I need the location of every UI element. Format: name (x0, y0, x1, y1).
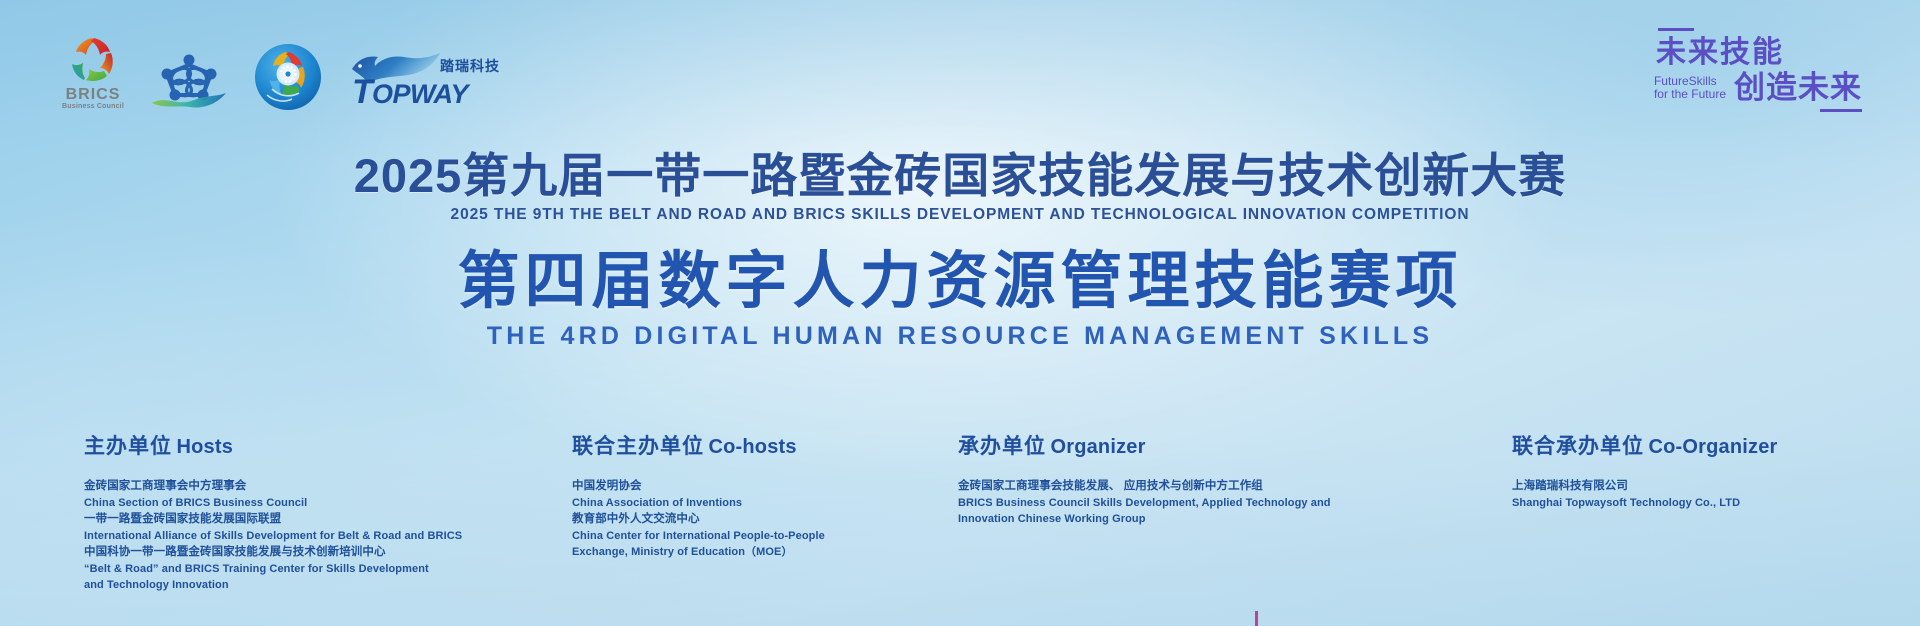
sub-title-en: THE 4RD DIGITAL HUMAN RESOURCE MANAGEMEN… (0, 321, 1920, 351)
svg-text:踏瑞科技: 踏瑞科技 (440, 58, 500, 74)
organizer-line: 一带一路暨金砖国家技能发展国际联盟 (84, 511, 554, 528)
organizer-line: Innovation Chinese Working Group (958, 511, 1388, 528)
organizer-line: 上海踏瑞科技有限公司 (1512, 478, 1912, 495)
organizer-heading: 联合主办单位 Co-hosts (572, 430, 932, 460)
magenta-tick-mark (1255, 611, 1258, 626)
organizer-line: International Alliance of Skills Develop… (84, 528, 554, 545)
brics-logo-subtext: Business Council (62, 102, 124, 111)
organizer-line: 金砖国家工商理事会中方理事会 (84, 478, 554, 495)
organizer-line: “Belt & Road” and BRICS Training Center … (84, 561, 554, 578)
organizer-heading: 联合承办单位 Co-Organizer (1512, 430, 1912, 460)
organizer-column-organizer: 承办单位 Organizer 金砖国家工商理事会技能发展、 应用技术与创新中方工… (958, 430, 1388, 528)
future-skills-en: FutureSkills for the Future (1654, 75, 1726, 104)
title-block: 2025第九届一带一路暨金砖国家技能发展与技术创新大赛 2025 THE 9TH… (0, 150, 1920, 351)
organizer-line: 中国科协一带一路暨金砖国家技能发展与技术创新培训中心 (84, 544, 554, 561)
organizer-heading-cn: 承办单位 (958, 435, 1046, 458)
organizer-heading-cn: 联合主办单位 (572, 435, 704, 458)
organizer-line: 金砖国家工商理事会技能发展、 应用技术与创新中方工作组 (958, 478, 1388, 495)
competition-banner: BRICS Business Council (0, 0, 1920, 626)
organizer-line: and Technology Innovation (84, 577, 554, 594)
skills-alliance-logo (150, 47, 228, 111)
main-title-cn: 2025第九届一带一路暨金砖国家技能发展与技术创新大赛 (0, 150, 1920, 202)
future-skills-en-line2: for the Future (1654, 88, 1726, 101)
organizer-column-cohosts: 联合主办单位 Co-hosts 中国发明协会 China Association… (572, 430, 932, 561)
organizer-heading-cn: 主办单位 (84, 435, 172, 458)
main-title-en: 2025 THE 9TH THE BELT AND ROAD AND BRICS… (0, 205, 1920, 225)
future-skills-rule-bottom (1820, 109, 1862, 112)
sub-title-cn: 第四届数字人力资源管理技能赛项 (0, 247, 1920, 317)
organizer-line: 教育部中外人文交流中心 (572, 511, 932, 528)
organizer-line: China Section of BRICS Business Council (84, 495, 554, 512)
organizer-column-hosts: 主办单位 Hosts 金砖国家工商理事会中方理事会 China Section … (84, 430, 554, 594)
organizer-line: 中国发明协会 (572, 478, 932, 495)
brics-logo-wordmark: BRICS (66, 87, 121, 102)
future-skills-block: 未来技能 FutureSkills for the Future 创造未来 (1654, 28, 1862, 112)
svg-text:OPWAY: OPWAY (372, 79, 471, 109)
future-skills-rule-top (1658, 28, 1694, 31)
future-skills-cn-line1: 未来技能 (1654, 37, 1862, 69)
organizer-line: Exchange, Ministry of Education（MOE） (572, 544, 932, 561)
organizer-heading-en: Co-Organizer (1648, 436, 1777, 458)
logo-strip: BRICS Business Council (62, 36, 500, 111)
organizer-line: Shanghai Topwaysoft Technology Co., LTD (1512, 495, 1912, 512)
brics-star-icon (67, 36, 119, 84)
organizer-heading-en: Organizer (1050, 436, 1145, 458)
organizer-line: China Center for International People-to… (572, 528, 932, 545)
organizer-heading-cn: 联合承办单位 (1512, 435, 1644, 458)
organizer-heading: 主办单位 Hosts (84, 430, 554, 460)
organizer-column-coorganizer: 联合承办单位 Co-Organizer 上海踏瑞科技有限公司 Shanghai … (1512, 430, 1912, 511)
organizer-line: BRICS Business Council Skills Developmen… (958, 495, 1388, 512)
topway-logo: T OPWAY 踏瑞科技 (348, 45, 500, 111)
competition-emblem-logo (254, 43, 322, 111)
organizer-heading-en: Hosts (176, 436, 233, 458)
organizer-heading: 承办单位 Organizer (958, 430, 1388, 460)
future-skills-cn-line2: 创造未来 (1734, 71, 1862, 104)
organizer-heading-en: Co-hosts (708, 436, 796, 458)
brics-business-council-logo: BRICS Business Council (62, 36, 124, 111)
organizer-line: China Association of Inventions (572, 495, 932, 512)
